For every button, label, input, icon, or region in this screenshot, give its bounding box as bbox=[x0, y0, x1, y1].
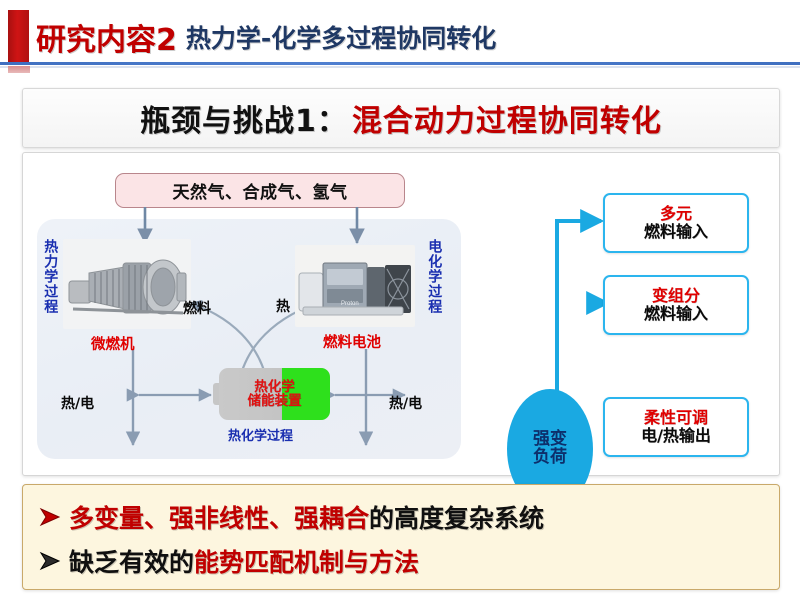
storage-label-group: 热化学 储能装置 bbox=[219, 368, 330, 420]
page-title: 热力学-化学多过程协同转化 bbox=[186, 19, 496, 55]
storage-label-line1: 热化学 bbox=[254, 380, 295, 394]
conclusion-1-highlight: 多变量、强非线性、强耦合 bbox=[69, 499, 369, 535]
header-badge: 研究内容2 bbox=[36, 15, 177, 59]
thermochemical-process-label: 热化学过程 bbox=[228, 425, 293, 444]
ellipse-line2: 负荷 bbox=[533, 449, 567, 467]
micro-gas-turbine-image bbox=[63, 239, 191, 329]
requirement-box-2-highlight: 变组分 bbox=[652, 287, 700, 305]
header-divider bbox=[0, 62, 800, 65]
challenge-title-card: 瓶颈与挑战1： 混合动力过程协同转化 bbox=[22, 88, 780, 148]
arrow-bullet-icon bbox=[37, 504, 63, 530]
header-divider-shadow bbox=[0, 66, 800, 68]
arrow-bullet-icon bbox=[37, 548, 63, 574]
thermochemical-storage-device: 热化学 储能装置 bbox=[213, 368, 330, 420]
fuel-source-box: 天然气、合成气、氢气 bbox=[115, 173, 405, 208]
conclusion-panel: 多变量、强非线性、强耦合 的高度复杂系统 缺乏有效的 能势匹配机制与方法 bbox=[22, 484, 780, 590]
conclusion-line-2: 缺乏有效的 能势匹配机制与方法 bbox=[37, 543, 419, 579]
diagram-panel: 天然气、合成气、氢气 bbox=[22, 152, 780, 476]
fuel-cell-caption: 燃料电池 bbox=[323, 331, 381, 352]
requirement-box-3[interactable]: 柔性可调 电/热输出 bbox=[603, 397, 749, 457]
challenge-title-prefix: 瓶颈与挑战1： bbox=[140, 96, 348, 140]
fuel-source-label: 天然气、合成气、氢气 bbox=[173, 178, 348, 203]
header-accent-stub bbox=[8, 66, 30, 73]
electrochemical-process-label: 电化学过程 bbox=[427, 239, 441, 314]
requirement-box-1-text: 燃料输入 bbox=[644, 223, 708, 241]
storage-label-line2: 储能装置 bbox=[248, 394, 302, 408]
slide-canvas: 研究内容2 热力学-化学多过程协同转化 瓶颈与挑战1： 混合动力过程协同转化 天… bbox=[0, 0, 800, 600]
requirement-box-3-text: 电/热输出 bbox=[641, 427, 711, 445]
fuel-cell-image: Proton bbox=[295, 245, 415, 327]
conclusion-1-text: 的高度复杂系统 bbox=[369, 499, 544, 535]
requirement-box-1[interactable]: 多元 燃料输入 bbox=[603, 193, 749, 253]
header-title-group: 研究内容2 热力学-化学多过程协同转化 bbox=[36, 12, 496, 62]
header-accent-bar bbox=[8, 10, 29, 64]
conclusion-line-1: 多变量、强非线性、强耦合 的高度复杂系统 bbox=[37, 499, 544, 535]
output-label-right: 热/电 bbox=[389, 393, 422, 413]
thermodynamic-process-label: 热力学过程 bbox=[43, 239, 57, 314]
challenge-title-highlight: 混合动力过程协同转化 bbox=[352, 96, 662, 140]
requirement-box-1-highlight: 多元 bbox=[660, 205, 692, 223]
micro-gas-turbine-caption: 微燃机 bbox=[91, 333, 135, 354]
conclusion-2-highlight: 能势匹配机制与方法 bbox=[194, 543, 419, 579]
requirement-box-2[interactable]: 变组分 燃料输入 bbox=[603, 275, 749, 335]
heat-flow-label: 热 bbox=[276, 296, 290, 316]
conclusion-2-text: 缺乏有效的 bbox=[69, 543, 194, 579]
output-label-left: 热/电 bbox=[61, 393, 94, 413]
svg-text:Proton: Proton bbox=[341, 301, 359, 307]
requirement-box-3-highlight: 柔性可调 bbox=[644, 409, 708, 427]
requirement-box-2-text: 燃料输入 bbox=[644, 305, 708, 323]
load-arrow-top bbox=[557, 221, 601, 393]
fuel-flow-label: 燃料 bbox=[183, 298, 211, 318]
